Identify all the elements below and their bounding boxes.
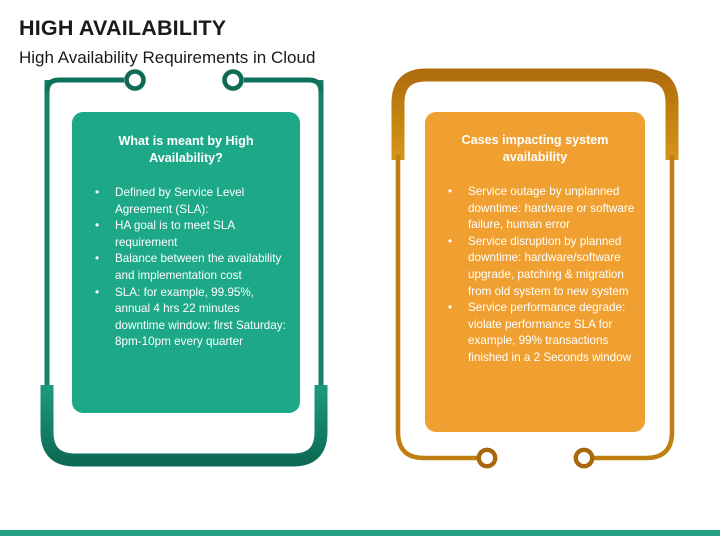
bullet-text: Balance between the availability and imp… — [115, 252, 281, 282]
bullet-text: SLA: for example, 99.95%, annual 4 hrs 2… — [115, 286, 286, 349]
list-item: • Service outage by unplanned downtime: … — [425, 184, 645, 234]
bullet-text: HA goal is to meet SLA requirement — [115, 219, 235, 249]
bullet-dot-icon: • — [95, 285, 99, 302]
bottom-accent-bar — [0, 530, 720, 536]
bullet-list-green: • Defined by Service Level Agreement (SL… — [72, 185, 300, 351]
list-item: • Balance between the availability and i… — [72, 251, 300, 284]
bullet-dot-icon: • — [95, 218, 99, 235]
bullet-dot-icon: • — [448, 234, 452, 251]
list-item: • Defined by Service Level Agreement (SL… — [72, 185, 300, 218]
bullet-text: Service performance degrade: violate per… — [468, 301, 631, 364]
list-item: • Service disruption by planned downtime… — [425, 234, 645, 300]
slide-canvas: HIGH AVAILABILITY High Availability Requ… — [0, 0, 720, 540]
bullet-text: Defined by Service Level Agreement (SLA)… — [115, 186, 244, 216]
panel-card-green[interactable]: What is meant by High Availability? • De… — [72, 112, 300, 413]
panel-card-orange[interactable]: Cases impacting system availability • Se… — [425, 112, 645, 432]
list-item: • Service performance degrade: violate p… — [425, 300, 645, 366]
panel-heading-green: What is meant by High Availability? — [72, 133, 300, 166]
bullet-text: Service outage by unplanned downtime: ha… — [468, 185, 634, 231]
bullet-text: Service disruption by planned downtime: … — [468, 235, 628, 298]
bullet-dot-icon: • — [448, 184, 452, 201]
page-title: HIGH AVAILABILITY — [19, 16, 226, 41]
bullet-dot-icon: • — [95, 185, 99, 202]
bullet-dot-icon: • — [95, 251, 99, 268]
page-subtitle: High Availability Requirements in Cloud — [19, 48, 315, 68]
list-item: • HA goal is to meet SLA requirement — [72, 218, 300, 251]
bullet-dot-icon: • — [448, 300, 452, 317]
bullet-list-orange: • Service outage by unplanned downtime: … — [425, 184, 645, 367]
list-item: • SLA: for example, 99.95%, annual 4 hrs… — [72, 285, 300, 351]
panel-heading-orange: Cases impacting system availability — [425, 132, 645, 165]
